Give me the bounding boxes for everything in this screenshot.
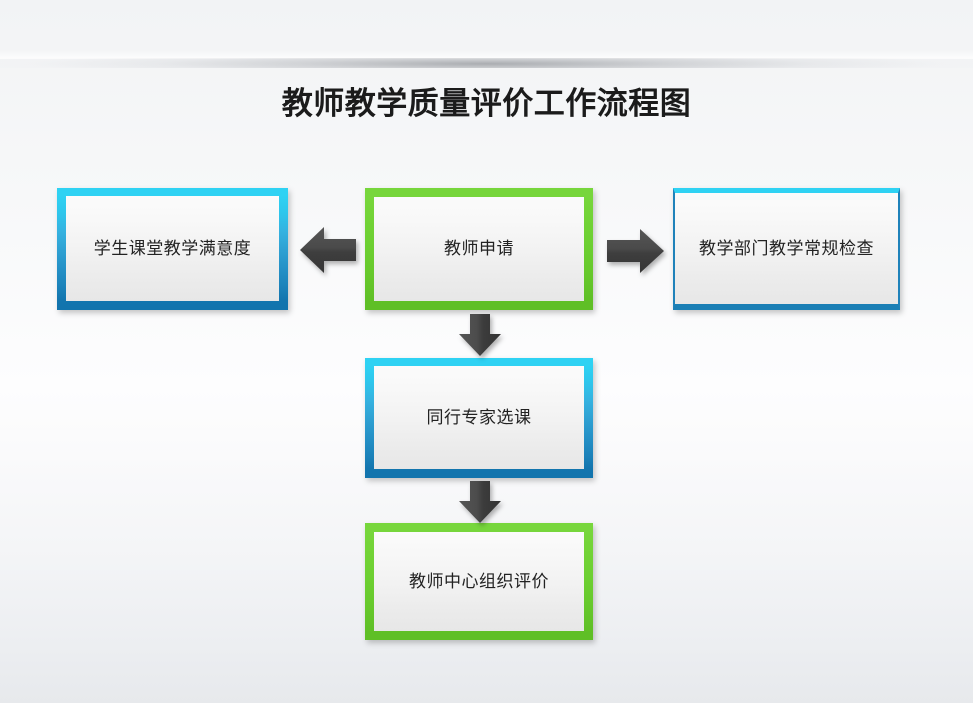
slide-divider-shadow [0,58,973,68]
flow-node-department-routine-check[interactable]: 教学部门教学常规检查 [673,188,900,310]
flow-node-teacher-center-evaluation[interactable]: 教师中心组织评价 [365,523,593,640]
flow-node-label: 教师申请 [444,238,514,260]
arrow-down-icon [456,479,504,525]
flow-node-peer-expert-course-selection[interactable]: 同行专家选课 [365,358,593,478]
flow-node-teacher-application[interactable]: 教师申请 [365,188,593,310]
arrow-right-icon [604,222,666,280]
flow-node-label: 学生课堂教学满意度 [94,238,252,260]
flow-node-label: 教学部门教学常规检查 [699,238,874,260]
page-title: 教师教学质量评价工作流程图 [0,82,973,126]
arrow-down-icon [456,312,504,358]
slide-divider-highlight [0,50,973,59]
slide-canvas: 教师教学质量评价工作流程图 学生课堂教学满意度 教师申请 教学部门教学常规检查 … [0,0,973,703]
flow-node-label: 同行专家选课 [427,407,532,429]
flow-node-label: 教师中心组织评价 [409,571,549,593]
flow-node-student-satisfaction[interactable]: 学生课堂教学满意度 [57,188,288,310]
arrow-left-icon [298,220,358,280]
